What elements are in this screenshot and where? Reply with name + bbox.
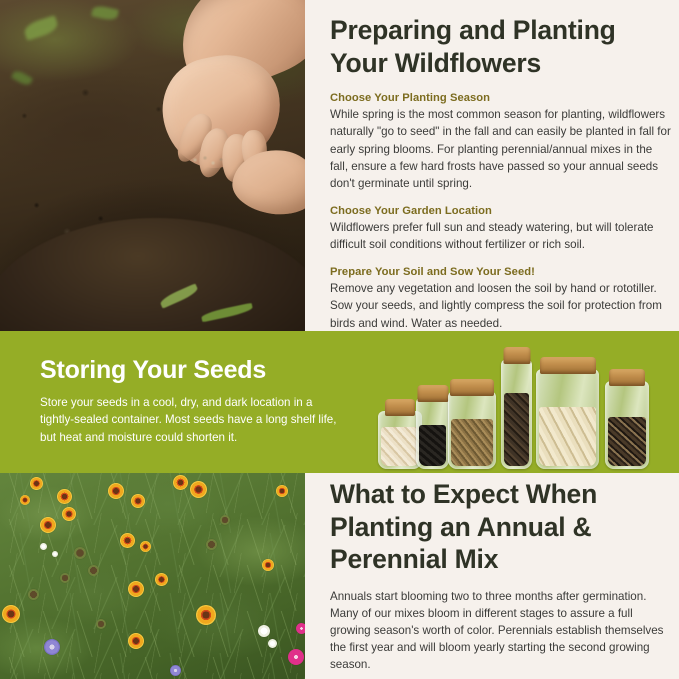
coreopsis-bloom [40,517,56,533]
storing-heading: Storing Your Seeds [40,355,340,385]
jar-mixed-seeds [605,369,649,469]
seed-fill [608,417,646,466]
expect-body: Annuals start blooming two to three mont… [330,588,671,674]
preparing-section: Preparing and Planting Your Wildflowers … [330,0,679,333]
seed-head-bud [28,589,39,600]
cork-lid [385,399,415,416]
white-bloom [258,625,270,637]
scabiosa-bloom [170,665,181,676]
cork-lid [450,379,494,396]
seed-jars-photo [378,335,670,469]
garden-location-body: Wildflowers prefer full sun and steady w… [330,219,671,253]
cork-lid [503,347,530,364]
garden-location-subhead: Choose Your Garden Location [330,205,671,217]
coreopsis-bloom [190,481,207,498]
seed-fill [504,393,529,466]
seed-fill [419,425,446,466]
coreopsis-bloom [140,541,151,552]
coreopsis-bloom [57,489,72,504]
storing-body: Store your seeds in a cool, dry, and dar… [40,394,340,446]
preparing-block: Prepare Your Soil and Sow Your Seed! Rem… [330,266,671,331]
coreopsis-bloom [276,485,288,497]
coreopsis-bloom [108,483,124,499]
what-to-expect-section: What to Expect When Planting an Annual &… [330,478,679,679]
seed-fill [539,407,596,466]
jar-tall-dark [501,347,532,469]
wildflower-meadow-photo [0,473,305,679]
white-bloom [40,543,47,550]
prepare-soil-subhead: Prepare Your Soil and Sow Your Seed! [330,266,671,278]
white-bloom [52,551,58,557]
infographic-page: Preparing and Planting Your Wildflowers … [0,0,679,679]
coreopsis-bloom [2,605,20,623]
preparing-block: Choose Your Garden Location Wildflowers … [330,205,671,253]
planting-season-body: While spring is the most common season f… [330,106,671,192]
seed-fill [451,419,493,466]
jar-brown-seeds [448,379,496,469]
seed-head-bud [220,515,230,525]
white-bloom [268,639,277,648]
expect-heading: What to Expect When Planting an Annual &… [330,478,671,576]
soil-sowing-photo [0,0,305,331]
coreopsis-bloom [262,559,274,571]
pink-bloom [296,623,305,634]
jar-black-seeds [416,385,449,469]
storing-seeds-band: Storing Your Seeds Store your seeds in a… [0,331,679,473]
seed-head-bud [88,565,99,576]
seed-head-bud [74,547,86,559]
jar-large-cream [536,357,599,469]
coreopsis-bloom [128,633,144,649]
coreopsis-bloom [120,533,135,548]
coreopsis-bloom [131,494,145,508]
cork-lid [540,357,596,374]
prepare-soil-body: Remove any vegetation and loosen the soi… [330,280,671,331]
coreopsis-bloom [155,573,168,586]
storing-text-block: Storing Your Seeds Store your seeds in a… [40,355,340,446]
preparing-heading: Preparing and Planting Your Wildflowers [330,14,671,79]
coreopsis-bloom [30,477,43,490]
preparing-block: Choose Your Planting Season While spring… [330,92,671,192]
coreopsis-bloom [173,475,188,490]
coreopsis-bloom [196,605,216,625]
coreopsis-bloom [62,507,76,521]
seed-head-bud [206,539,217,550]
seed-head-bud [60,573,70,583]
seed-fill [381,427,419,466]
coreopsis-bloom [128,581,144,597]
seeds-in-hand [187,152,227,172]
coreopsis-bloom [20,495,30,505]
planting-season-subhead: Choose Your Planting Season [330,92,671,104]
scabiosa-bloom [44,639,60,655]
seed-head-bud [96,619,106,629]
pink-bloom [288,649,304,665]
cork-lid [609,369,645,386]
cork-lid [417,385,448,402]
